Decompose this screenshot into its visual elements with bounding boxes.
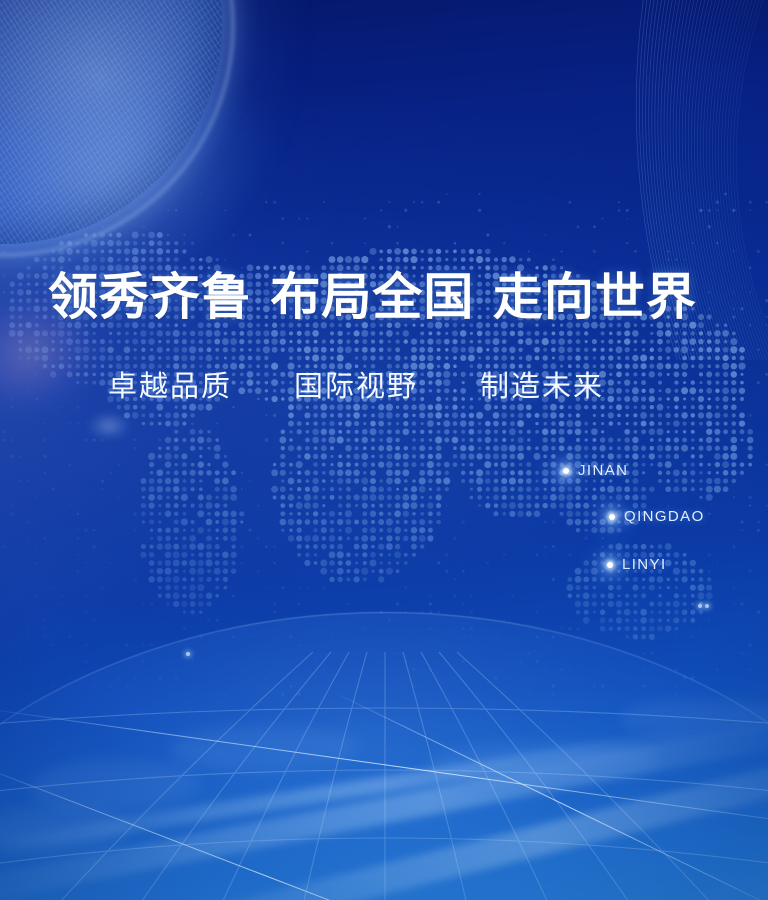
city-label: JINAN	[578, 462, 628, 479]
city-label: LINYI	[622, 556, 667, 573]
subheadline-item-1: 卓越品质	[108, 366, 232, 406]
map-pin-icon	[609, 514, 615, 520]
city-marker-linyi[interactable]: LINYI	[607, 556, 667, 573]
background-vignette	[0, 0, 768, 900]
map-pin-icon	[563, 468, 569, 474]
headline: 领秀齐鲁 布局全国 走向世界	[48, 268, 728, 326]
hero-banner: 领秀齐鲁 布局全国 走向世界 卓越品质 国际视野 制造未来 JINAN QING…	[0, 0, 768, 900]
city-label: QINGDAO	[624, 508, 705, 525]
map-pin-icon	[607, 562, 613, 568]
city-marker-qingdao[interactable]: QINGDAO	[609, 508, 705, 525]
city-marker-jinan[interactable]: JINAN	[563, 462, 628, 479]
subheadline-item-3: 制造未来	[480, 366, 604, 406]
subheadline: 卓越品质 国际视野 制造未来	[108, 366, 708, 406]
subheadline-item-2: 国际视野	[294, 366, 418, 406]
